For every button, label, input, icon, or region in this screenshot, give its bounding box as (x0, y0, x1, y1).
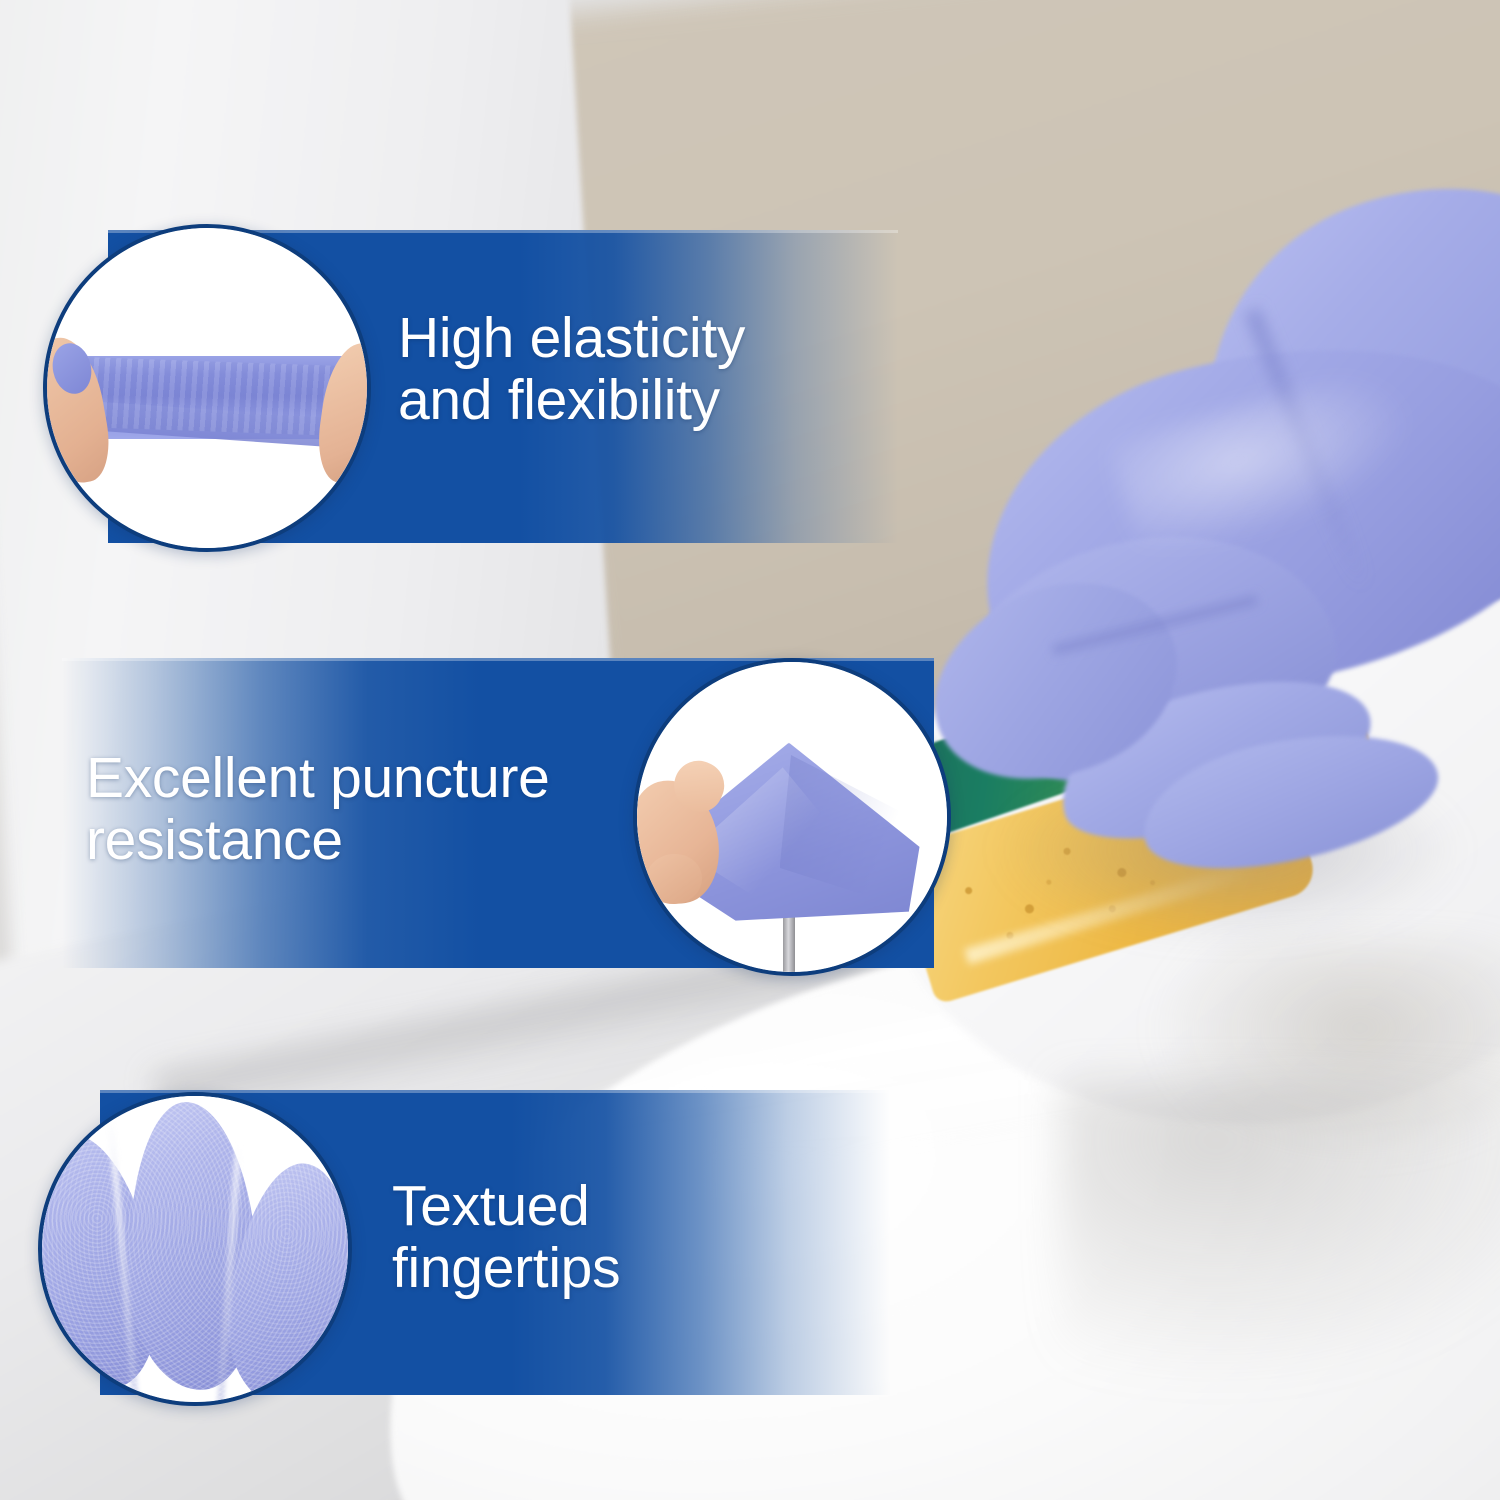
fingertip-texture-pattern (42, 1096, 348, 1402)
feature-title-puncture-resistance: Excellent puncture resistance (86, 748, 550, 871)
product-feature-image: High elasticity and flexibility Excellen… (0, 0, 1500, 1500)
feature-banner-high-elasticity: High elasticity and flexibility (0, 230, 1500, 543)
thumbnail-photo-fingertips (42, 1096, 348, 1402)
feature-thumbnail-textured-fingertips[interactable] (38, 1092, 352, 1406)
thumbnail-photo-puncture-test (637, 662, 947, 972)
feature-thumbnail-puncture-resistance[interactable] (633, 658, 951, 976)
feature-banner-textured-fingertips: Textued fingertips (0, 1090, 1500, 1395)
banner-top-highlight (100, 1090, 890, 1093)
feature-title-high-elasticity: High elasticity and flexibility (398, 308, 745, 431)
thumbnail-photo-stretched-glove (47, 228, 367, 548)
feature-banner-puncture-resistance: Excellent puncture resistance (0, 658, 1500, 968)
feature-thumbnail-high-elasticity[interactable] (43, 224, 371, 552)
feature-title-textured-fingertips: Textued fingertips (392, 1176, 620, 1299)
